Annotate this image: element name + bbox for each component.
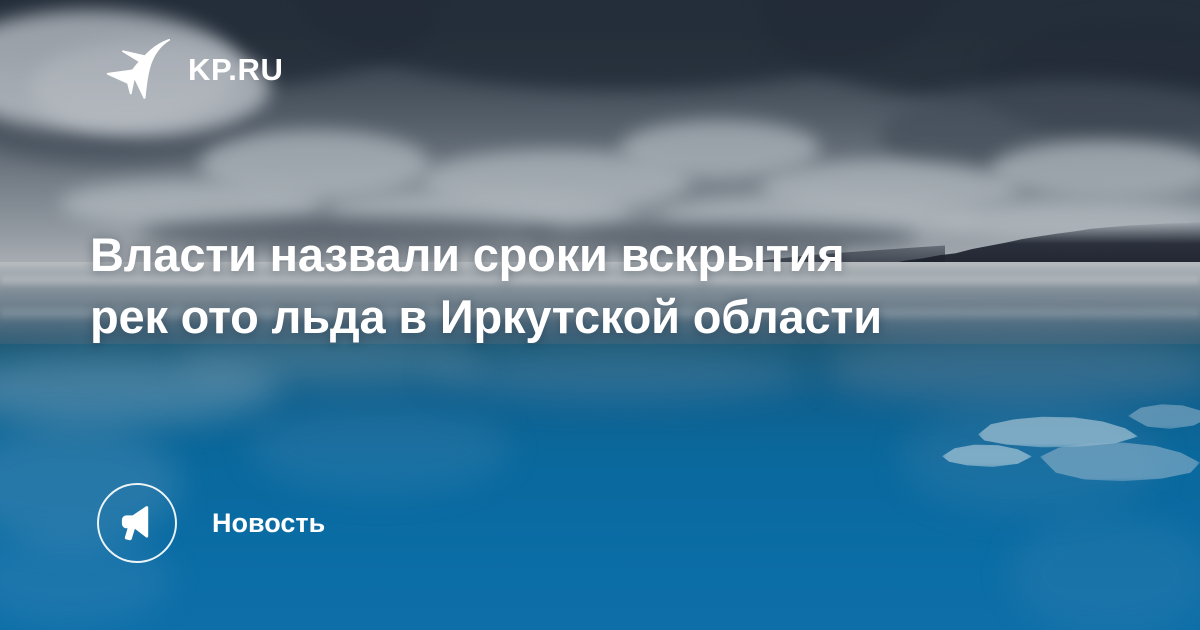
headline-line-1: Власти назвали сроки вскрытия [90, 224, 1100, 286]
page-title: Власти назвали сроки вскрытия рек ото ль… [90, 224, 1100, 348]
swallow-bird-icon [106, 38, 170, 100]
brand-name: KP.RU [188, 54, 283, 85]
status-badge[interactable]: Новость [97, 483, 325, 563]
headline-line-2: рек ото льда в Иркутской области [90, 286, 1100, 348]
megaphone-icon [97, 483, 177, 563]
status-badge-label: Новость [212, 510, 325, 537]
news-share-card: KP.RU Власти назвали сроки вскрытия рек … [0, 0, 1200, 630]
card-content: KP.RU Власти назвали сроки вскрытия рек … [0, 0, 1200, 630]
brand-lockup[interactable]: KP.RU [106, 36, 283, 102]
